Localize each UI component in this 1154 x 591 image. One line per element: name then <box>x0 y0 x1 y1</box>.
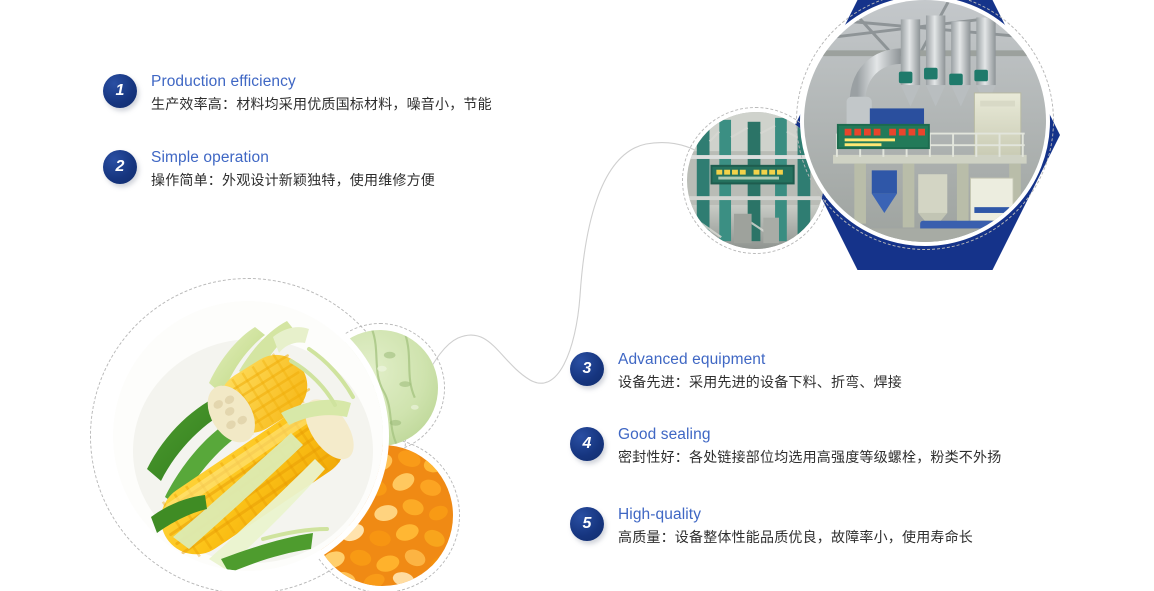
feature-item-2[interactable]: 2 Simple operation 操作简单：外观设计新颖独特，使用维修方便 <box>103 148 435 190</box>
machinery-image-group <box>660 0 1154 290</box>
feature-number-4: 4 <box>583 436 592 452</box>
feature-item-1[interactable]: 1 Production efficiency 生产效率高：材料均采用优质国标材… <box>103 72 492 114</box>
feature-badge-5: 5 <box>570 507 604 541</box>
feature-item-3[interactable]: 3 Advanced equipment 设备先进：采用先进的设备下料、折弯、焊… <box>570 350 902 392</box>
feature-title-3: Advanced equipment <box>618 350 902 369</box>
feature-desc-4: 密封性好：各处链接部位均选用高强度等级螺栓，粉类不外扬 <box>618 447 1001 467</box>
feature-desc-5: 高质量：设备整体性能品质优良，故障率小，使用寿命长 <box>618 527 973 547</box>
feature-number-5: 5 <box>583 516 592 532</box>
corn-image-group <box>90 278 490 591</box>
feature-text-5: High-quality 高质量：设备整体性能品质优良，故障率小，使用寿命长 <box>618 505 973 547</box>
feature-number-1: 1 <box>116 83 125 99</box>
feature-title-4: Good sealing <box>618 425 1001 444</box>
feature-highlight-page: 1 Production efficiency 生产效率高：材料均采用优质国标材… <box>0 0 1154 591</box>
feature-badge-4: 4 <box>570 427 604 461</box>
feature-text-3: Advanced equipment 设备先进：采用先进的设备下料、折弯、焊接 <box>618 350 902 392</box>
feature-number-2: 2 <box>116 159 125 175</box>
corn-cob-photo[interactable] <box>113 301 383 571</box>
feature-title-2: Simple operation <box>151 148 435 167</box>
feature-text-2: Simple operation 操作简单：外观设计新颖独特，使用维修方便 <box>151 148 435 190</box>
feature-badge-3: 3 <box>570 352 604 386</box>
feature-desc-1: 生产效率高：材料均采用优质国标材料，噪音小，节能 <box>151 94 492 114</box>
feature-item-5[interactable]: 5 High-quality 高质量：设备整体性能品质优良，故障率小，使用寿命长 <box>570 505 973 547</box>
feature-text-1: Production efficiency 生产效率高：材料均采用优质国标材料，… <box>151 72 492 114</box>
feature-number-3: 3 <box>583 361 592 377</box>
feature-badge-1: 1 <box>103 74 137 108</box>
feature-item-4[interactable]: 4 Good sealing 密封性好：各处链接部位均选用高强度等级螺栓，粉类不… <box>570 425 1001 467</box>
feature-text-4: Good sealing 密封性好：各处链接部位均选用高强度等级螺栓，粉类不外扬 <box>618 425 1001 467</box>
feature-desc-3: 设备先进：采用先进的设备下料、折弯、焊接 <box>618 372 902 392</box>
main-machinery-photo[interactable] <box>800 0 1050 246</box>
feature-badge-2: 2 <box>103 150 137 184</box>
feature-title-5: High-quality <box>618 505 973 524</box>
feature-desc-2: 操作简单：外观设计新颖独特，使用维修方便 <box>151 170 435 190</box>
feature-title-1: Production efficiency <box>151 72 492 91</box>
